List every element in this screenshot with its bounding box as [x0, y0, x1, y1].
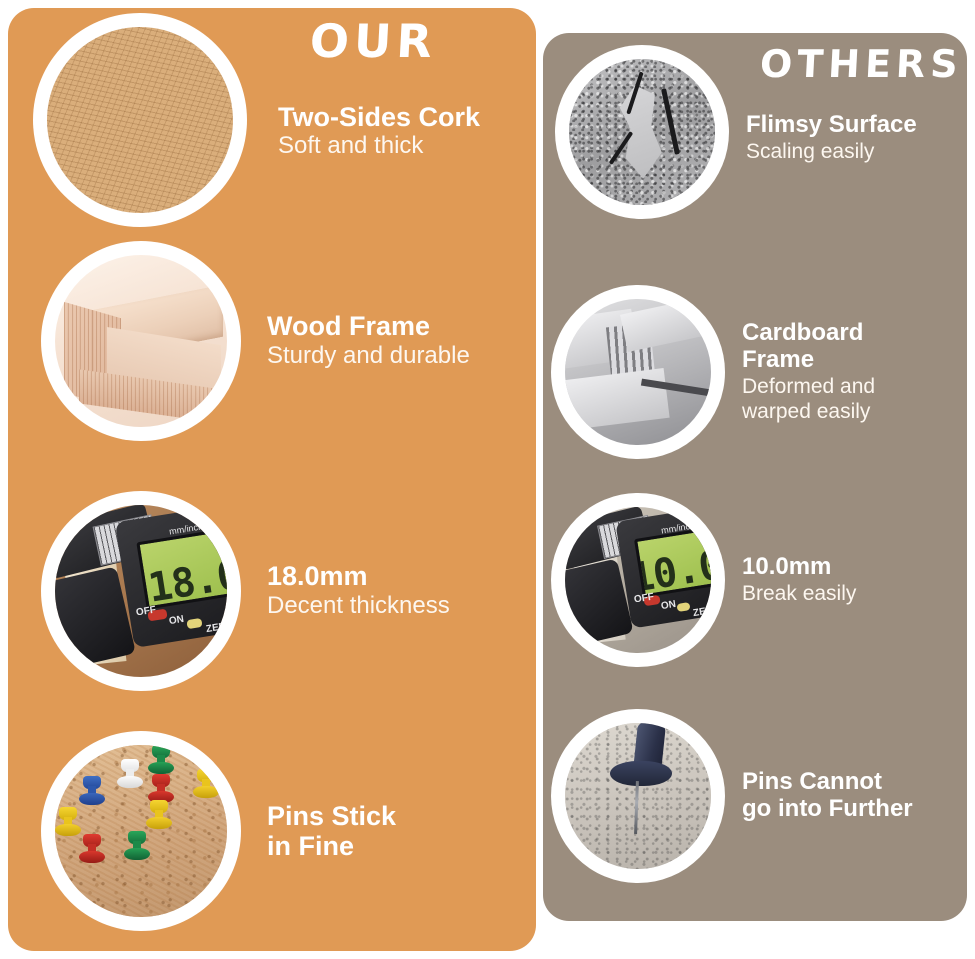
- our-feature-text-pins: Pins Stick in Fine: [267, 801, 396, 861]
- cork-texture-photo: [40, 20, 240, 220]
- our-feature-title-cork: Two-Sides Cork: [278, 102, 480, 132]
- others-feature-subtitle-surface: Scaling easily: [746, 139, 917, 164]
- our-feature-title-wood-frame: Wood Frame: [267, 311, 470, 341]
- others-feature-text-thickness: 10.0mm Break easily: [742, 554, 856, 606]
- others-feature-subtitle-thickness: Break easily: [742, 581, 856, 606]
- others-feature-title-pins: Pins Cannot: [742, 769, 913, 796]
- cork-texture-image: [47, 27, 233, 213]
- comparison-infographic: OUR Two-Sides Cork Soft and thick: [0, 0, 975, 959]
- pushpin-needle: [634, 781, 639, 834]
- surface-crack-right: [661, 88, 680, 155]
- others-feature-row-thickness: 10.0 mm/inch OFF ON ZERO 10.0mm Break ea…: [558, 500, 856, 660]
- others-feature-title-frame: Cardboard: [742, 320, 875, 347]
- cracked-surface-image: [569, 59, 715, 205]
- others-feature-text-pins: Pins Cannot go into Further: [742, 769, 913, 823]
- others-feature-row-pins: Pins Cannot go into Further: [558, 716, 913, 876]
- others-feature-subtitle-frame: Deformed and: [742, 374, 875, 399]
- pushpin-navy-cap: [610, 761, 671, 786]
- our-feature-title-pins-line2: in Fine: [267, 831, 396, 861]
- pushpin-blue: [79, 776, 105, 806]
- pushpin-yellow-right: [193, 769, 219, 799]
- cardboard-edge-image: [565, 299, 711, 445]
- caliper-scene-fill-others: 10.0 mm/inch OFF ON ZERO: [565, 507, 711, 653]
- wood-frame-fill: [55, 255, 227, 427]
- our-feature-row-cork: Two-Sides Cork Soft and thick: [40, 20, 480, 220]
- hard-surface-fill: [565, 723, 711, 869]
- pushpin-white: [117, 759, 143, 789]
- pin-not-penetrating-photo: [558, 716, 718, 876]
- caliper-cork-image: 18.0 mm/inch OFF ON ZERO: [55, 505, 227, 677]
- caliper-cardboard-image: 10.0 mm/inch OFF ON ZERO: [565, 507, 711, 653]
- others-feature-title-thickness: 10.0mm: [742, 554, 856, 581]
- cracked-surface-fill: [569, 59, 715, 205]
- torn-cardboard-edge-photo: [558, 292, 718, 452]
- others-feature-title-pins-line2: go into Further: [742, 796, 913, 823]
- others-feature-subtitle-frame-line2: warped easily: [742, 399, 875, 424]
- caliper-measuring-cardboard-photo: 10.0 mm/inch OFF ON ZERO: [558, 500, 718, 660]
- pushpin-yellow-middle: [146, 800, 172, 830]
- cardboard-lower-slab: [565, 368, 670, 431]
- caliper-on-label: ON: [168, 614, 185, 627]
- pushpins-in-cork-photo: [48, 738, 234, 924]
- our-feature-row-thickness: 18.0 mm/inch OFF ON ZERO 18.0mm Decent t…: [48, 498, 450, 684]
- pushpin-green-lower: [124, 831, 150, 861]
- pushpin-green-top: [148, 745, 174, 775]
- caliper-measuring-cork-photo: 18.0 mm/inch OFF ON ZERO: [48, 498, 234, 684]
- our-feature-text-thickness: 18.0mm Decent thickness: [267, 561, 450, 620]
- others-feature-title-frame-line2: Frame: [742, 347, 875, 374]
- others-feature-text-frame: Cardboard Frame Deformed and warped easi…: [742, 320, 875, 424]
- cracked-grey-surface-photo: [562, 52, 722, 212]
- wood-frame-photo: [48, 248, 234, 434]
- our-feature-title-thickness: 18.0mm: [267, 561, 450, 591]
- our-feature-row-wood-frame: Wood Frame Sturdy and durable: [48, 248, 470, 434]
- our-feature-subtitle-thickness: Decent thickness: [267, 592, 450, 621]
- cardboard-top-strip: [620, 299, 711, 352]
- our-feature-subtitle-wood-frame: Sturdy and durable: [267, 342, 470, 371]
- pushpin-red-lower: [79, 834, 105, 864]
- our-feature-text-cork: Two-Sides Cork Soft and thick: [278, 102, 480, 161]
- others-feature-row-frame: Cardboard Frame Deformed and warped easi…: [558, 292, 875, 452]
- our-feature-row-pins: Pins Stick in Fine: [48, 738, 396, 924]
- cardboard-fill: [565, 299, 711, 445]
- cork-texture-fill: [47, 27, 233, 213]
- our-feature-title-pins: Pins Stick: [267, 801, 396, 831]
- our-feature-text-wood-frame: Wood Frame Sturdy and durable: [267, 311, 470, 370]
- pushpin-yellow-left: [55, 807, 81, 837]
- wood-frame-image: [55, 255, 227, 427]
- pushpins-image: [55, 745, 227, 917]
- others-feature-row-surface: Flimsy Surface Scaling easily: [562, 52, 917, 212]
- others-feature-title-surface: Flimsy Surface: [746, 112, 917, 139]
- our-feature-subtitle-cork: Soft and thick: [278, 132, 480, 161]
- pushpins-cork-fill: [55, 745, 227, 917]
- others-feature-text-surface: Flimsy Surface Scaling easily: [746, 112, 917, 164]
- caliper-scene-fill: 18.0 mm/inch OFF ON ZERO: [55, 505, 227, 677]
- pin-hard-surface-image: [565, 723, 711, 869]
